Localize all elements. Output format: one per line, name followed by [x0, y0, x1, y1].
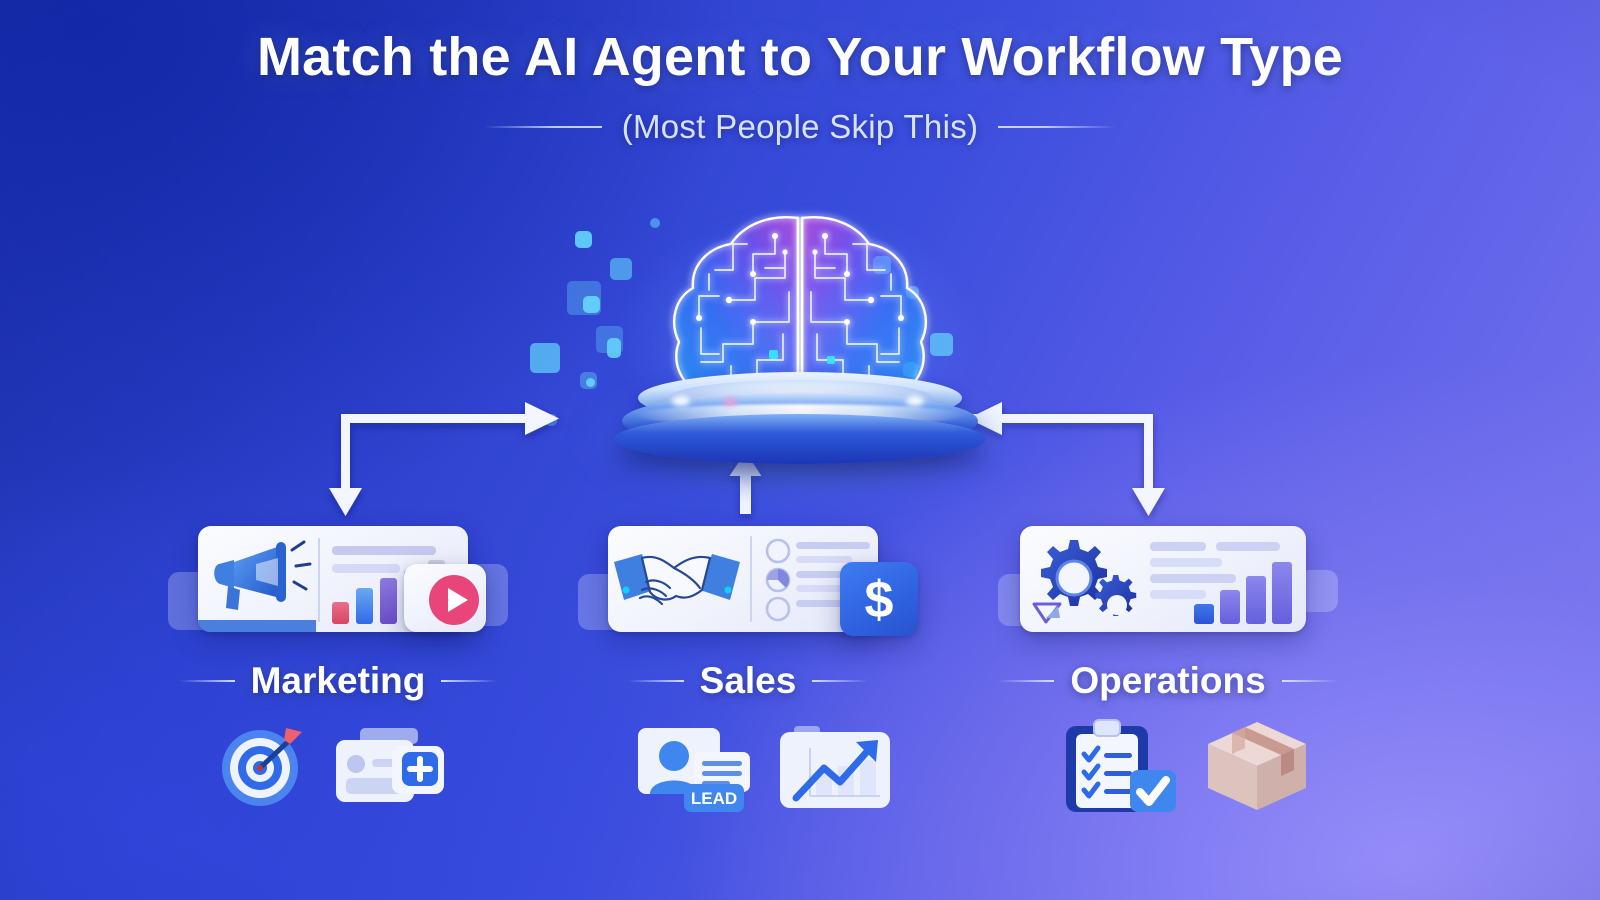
pedestal-specular-right: [906, 396, 924, 406]
branch-label: Marketing: [251, 660, 426, 702]
lead-badge-text: LEAD: [691, 789, 737, 808]
branch-label: Sales: [700, 660, 797, 702]
label-divider-left: [179, 680, 235, 682]
marketing-footer-icons: [216, 718, 450, 810]
branch-sales[interactable]: $: [578, 512, 918, 642]
label-divider-left: [998, 680, 1054, 682]
text-line: [1150, 590, 1206, 599]
chart-bar: [1246, 576, 1266, 624]
data-square: [530, 343, 560, 373]
sales-footer-icons: LEAD: [636, 722, 894, 812]
handshake-icon: [612, 534, 742, 626]
connector-marketing: [329, 402, 559, 516]
header: Match the AI Agent to Your Workflow Type…: [0, 26, 1600, 146]
marketing-card-divider: [318, 538, 320, 622]
page-title: Match the AI Agent to Your Workflow Type: [0, 26, 1600, 88]
text-line: [332, 564, 400, 573]
package-box-icon[interactable]: [1202, 714, 1312, 814]
operations-card[interactable]: [1020, 526, 1306, 632]
label-operations: Operations: [998, 656, 1338, 706]
text-line: [332, 546, 436, 555]
label-divider-right: [1282, 680, 1338, 682]
subtitle-divider-right: [998, 126, 1116, 128]
text-line: [1150, 558, 1222, 567]
marketing-card-footer-band: [198, 620, 316, 632]
label-marketing: Marketing: [168, 656, 508, 706]
label-divider-left: [628, 680, 684, 682]
gears-icon: [1026, 532, 1142, 628]
pedestal-specular-left: [672, 396, 690, 406]
data-square: [545, 414, 557, 426]
growth-chart-icon[interactable]: [776, 724, 894, 812]
sales-card[interactable]: [608, 526, 878, 632]
branch-operations[interactable]: [998, 512, 1338, 642]
text-line: [1216, 542, 1280, 551]
page-subtitle: (Most People Skip This): [622, 108, 979, 146]
svg-text:$: $: [865, 571, 894, 629]
label-sales: Sales: [578, 656, 918, 706]
pedestal-tier-base: [614, 414, 986, 464]
chart-bar: [356, 588, 373, 624]
holographic-pedestal: [614, 368, 986, 464]
label-divider-right: [441, 680, 497, 682]
chart-bar: [1194, 604, 1214, 624]
target-dart-icon[interactable]: [216, 718, 308, 810]
ad-card-plus-icon[interactable]: [330, 724, 450, 810]
dollar-card[interactable]: $: [840, 562, 918, 636]
sales-card-divider: [750, 536, 752, 622]
lead-contact-icon[interactable]: LEAD: [636, 722, 754, 812]
branch-marketing[interactable]: [168, 512, 508, 642]
subtitle-divider-left: [484, 126, 602, 128]
dollar-sign-icon: $: [849, 565, 909, 633]
play-button-icon[interactable]: [426, 572, 482, 628]
text-line: [1150, 542, 1206, 551]
subtitle-row: (Most People Skip This): [0, 108, 1600, 146]
chart-bar: [380, 578, 397, 624]
video-card[interactable]: [404, 564, 486, 632]
branch-label: Operations: [1070, 660, 1265, 702]
text-line: [1150, 574, 1236, 583]
megaphone-icon: [204, 536, 312, 622]
clipboard-check-icon[interactable]: [1064, 714, 1180, 814]
operations-footer-icons: [1064, 714, 1312, 814]
chart-bar: [1220, 590, 1240, 624]
label-divider-right: [812, 680, 868, 682]
pedestal-specular-pink: [724, 398, 736, 406]
chart-bar: [332, 602, 349, 624]
infographic-canvas: Match the AI Agent to Your Workflow Type…: [0, 0, 1600, 900]
chart-bar: [1272, 562, 1292, 624]
